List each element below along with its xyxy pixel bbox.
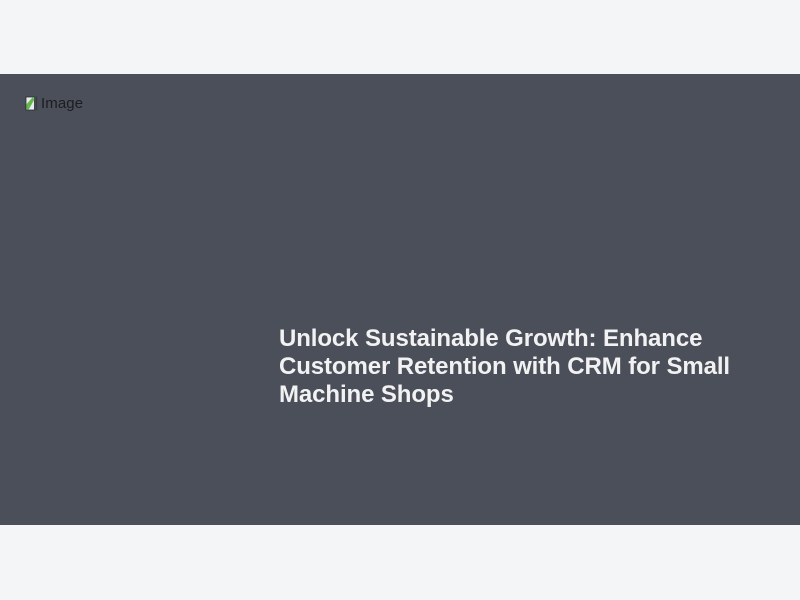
broken-image-placeholder[interactable]: Image — [24, 95, 83, 112]
broken-image-alt-text: Image — [41, 96, 83, 111]
hero-heading: Unlock Sustainable Growth: Enhance Custo… — [279, 325, 739, 409]
broken-image-icon — [24, 95, 39, 112]
hero-banner-panel: Unlock Sustainable Growth: Enhance Custo… — [0, 74, 800, 525]
page-canvas: Unlock Sustainable Growth: Enhance Custo… — [0, 0, 800, 600]
